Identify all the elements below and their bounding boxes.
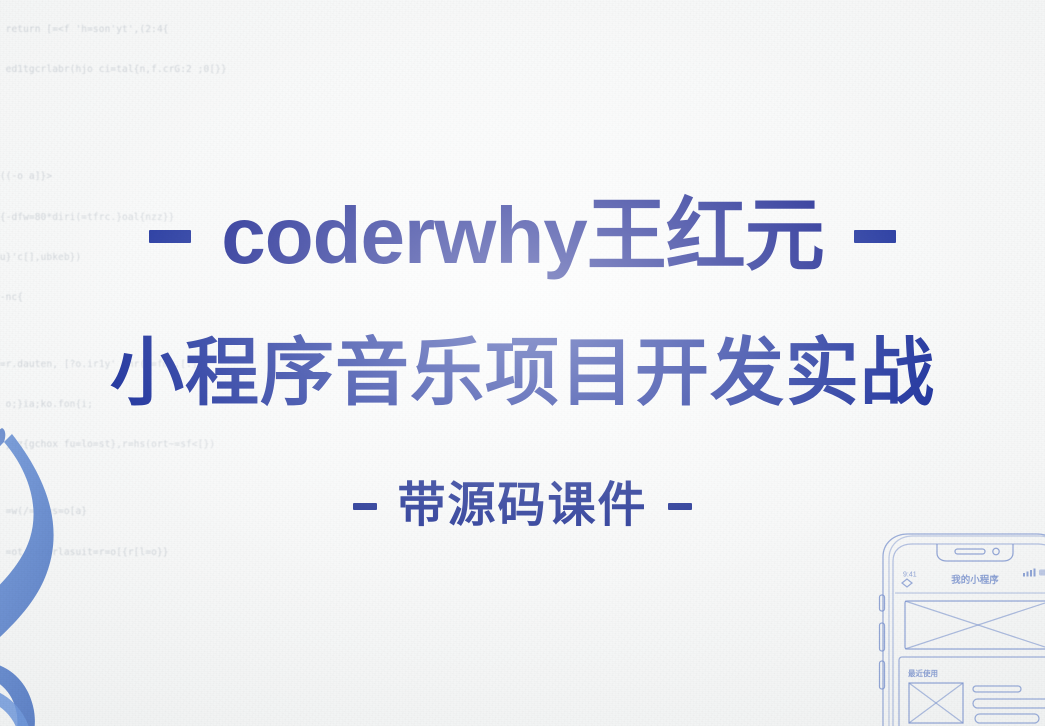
phone-section-label: 最近使用 [908, 668, 938, 678]
title-left-dash [149, 230, 191, 243]
code-line: ~((-o a]}> [0, 170, 294, 183]
course-subtitle: 小程序音乐项目开发实战 [0, 336, 1045, 410]
page-title: coderwhy王红元 [221, 196, 823, 276]
phone-nav-title: 我的小程序 [951, 574, 999, 586]
code-line: } [0, 103, 294, 116]
phone-status-icons [1023, 569, 1045, 577]
course-tagline: 带源码课件 [397, 482, 647, 530]
code-line: y=z{gchox fu=lo=st},r=hs(ort~=sf<[}) [0, 438, 294, 451]
tagline-left-dash [353, 503, 377, 510]
poster-canvas: return [=<f 'h=son'yt',(2:4{ ed1tgcrlabr… [0, 0, 1045, 726]
code-line: return [=<f 'h=son'yt',(2:4{ [0, 23, 294, 36]
code-line: ed1tgcrlabr(hjo ci=tal{n,f.crG:2 ;0[}} [0, 63, 294, 76]
course-tagline-row: 带源码课件 [0, 482, 1045, 530]
code-line: }-nc{ [0, 291, 294, 304]
course-title-row: coderwhy王红元 [0, 196, 1045, 276]
phone-status-time: 9:41 [903, 572, 917, 579]
tagline-right-dash [668, 503, 692, 510]
phone-mockup: 9:41 我的小程序 最近使用 [853, 531, 1045, 726]
code-line: =ot lururlasuit=r=o[{r[l=o}} [0, 546, 294, 559]
title-right-dash [854, 230, 896, 243]
treble-clef-icon [0, 414, 144, 726]
